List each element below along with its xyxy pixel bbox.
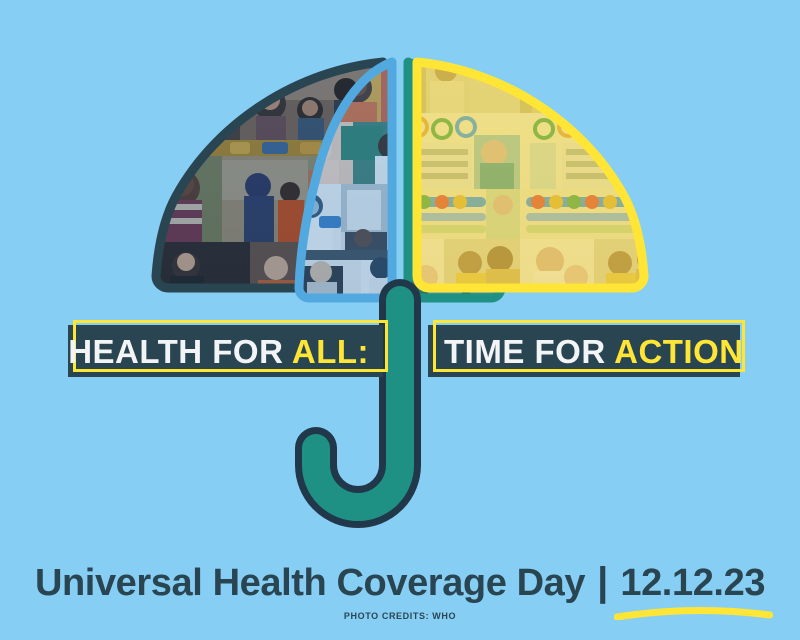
footer-date: 12.12.23: [620, 562, 765, 604]
banner-left-text-highlight: ALL:: [292, 333, 369, 370]
umbrella-panel-yellow: [410, 50, 660, 310]
date-underline-swoosh: [614, 606, 773, 620]
banner-right-text-white: TIME FOR: [444, 333, 614, 370]
umbrella-graphic: [0, 0, 800, 640]
footer: Universal Health Coverage Day | 12.12.23…: [0, 562, 800, 621]
banner-health-for-all: HEALTH FOR ALL:: [68, 325, 383, 377]
banner-left-text: HEALTH FOR ALL:: [68, 335, 369, 368]
footer-title: Universal Health Coverage Day: [35, 564, 585, 602]
banner-right-text-highlight: ACTION: [614, 333, 744, 370]
banner-time-for-action: TIME FOR ACTION: [428, 325, 740, 377]
banner-left-text-white: HEALTH FOR: [68, 333, 292, 370]
footer-title-row: Universal Health Coverage Day | 12.12.23: [0, 562, 800, 602]
footer-date-wrap: 12.12.23: [620, 564, 765, 602]
poster-canvas: HEALTH FOR ALL: TIME FOR ACTION Universa…: [0, 0, 800, 640]
banner-right-text: TIME FOR ACTION: [444, 335, 744, 368]
footer-separator: |: [585, 562, 620, 602]
